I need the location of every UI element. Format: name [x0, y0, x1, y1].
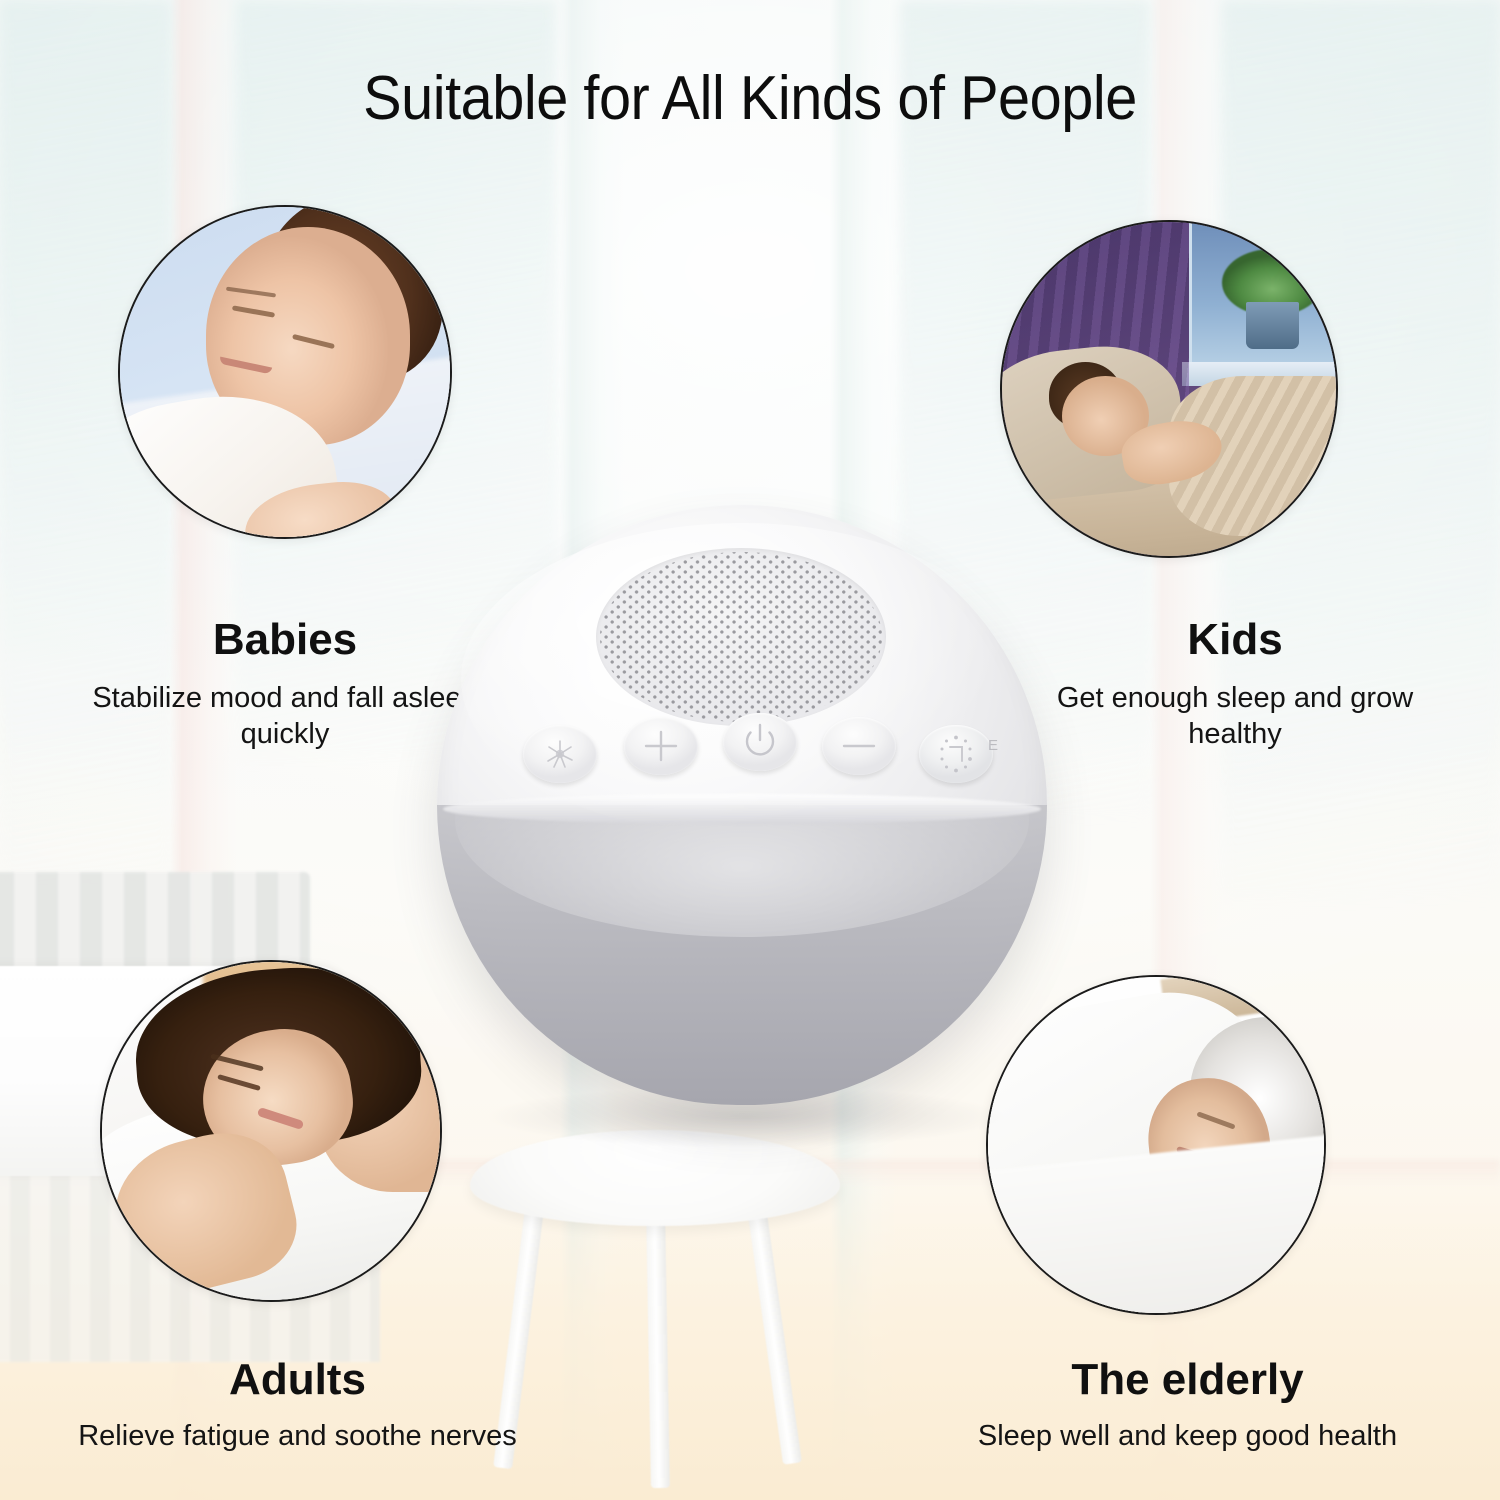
- volume-down-button[interactable]: [822, 717, 896, 775]
- kids-plant-pot: [1246, 302, 1299, 349]
- device-seam-lip: [443, 794, 1041, 824]
- caption-desc-kids: Get enough sleep and grow healthy: [1040, 680, 1430, 753]
- power-icon: [723, 713, 797, 771]
- sound-machine-device: E: [437, 505, 1047, 1105]
- caption-title-elderly: The elderly: [935, 1358, 1440, 1402]
- photo-kids: [1000, 220, 1338, 558]
- speaker-perforations: [600, 552, 882, 722]
- baby-scene: [120, 207, 450, 537]
- caption-desc-adults: Relieve fatigue and soothe nerves: [45, 1418, 550, 1454]
- photo-adults: [100, 960, 442, 1302]
- caption-desc-elderly: Sleep well and keep good health: [935, 1418, 1440, 1454]
- table-leg-right: [746, 1199, 802, 1465]
- timer-button[interactable]: [919, 725, 993, 783]
- caption-adults: Adults Relieve fatigue and soothe nerves: [45, 1358, 550, 1454]
- plus-icon: [624, 717, 698, 775]
- product-feature-poster: Suitable for All Kinds of People: [0, 0, 1500, 1500]
- device-light-diffuser: [437, 805, 1047, 1105]
- power-button[interactable]: [723, 713, 797, 771]
- timer-dial-icon: [919, 725, 993, 783]
- photo-babies: [118, 205, 452, 539]
- device-side-marking: E: [988, 737, 999, 754]
- device-control-panel: [523, 711, 963, 791]
- page-title: Suitable for All Kinds of People: [53, 68, 1448, 130]
- sound-mode-icon: [523, 725, 597, 783]
- caption-title-kids: Kids: [1040, 618, 1430, 662]
- caption-title-babies: Babies: [90, 618, 480, 662]
- caption-babies: Babies Stabilize mood and fall asleep qu…: [90, 618, 480, 753]
- adult-scene: [102, 962, 440, 1300]
- sound-mode-button[interactable]: [523, 725, 597, 783]
- caption-kids: Kids Get enough sleep and grow healthy: [1040, 618, 1430, 753]
- volume-up-button[interactable]: [624, 717, 698, 775]
- kids-scene: [1002, 222, 1336, 556]
- kids-window-frame: [1189, 222, 1192, 372]
- caption-desc-babies: Stabilize mood and fall asleep quickly: [90, 680, 480, 753]
- minus-icon: [822, 717, 896, 775]
- caption-title-adults: Adults: [45, 1358, 550, 1402]
- caption-elderly: The elderly Sleep well and keep good hea…: [935, 1358, 1440, 1454]
- table-leg-middle: [646, 1206, 670, 1488]
- speaker-grille: [596, 548, 886, 726]
